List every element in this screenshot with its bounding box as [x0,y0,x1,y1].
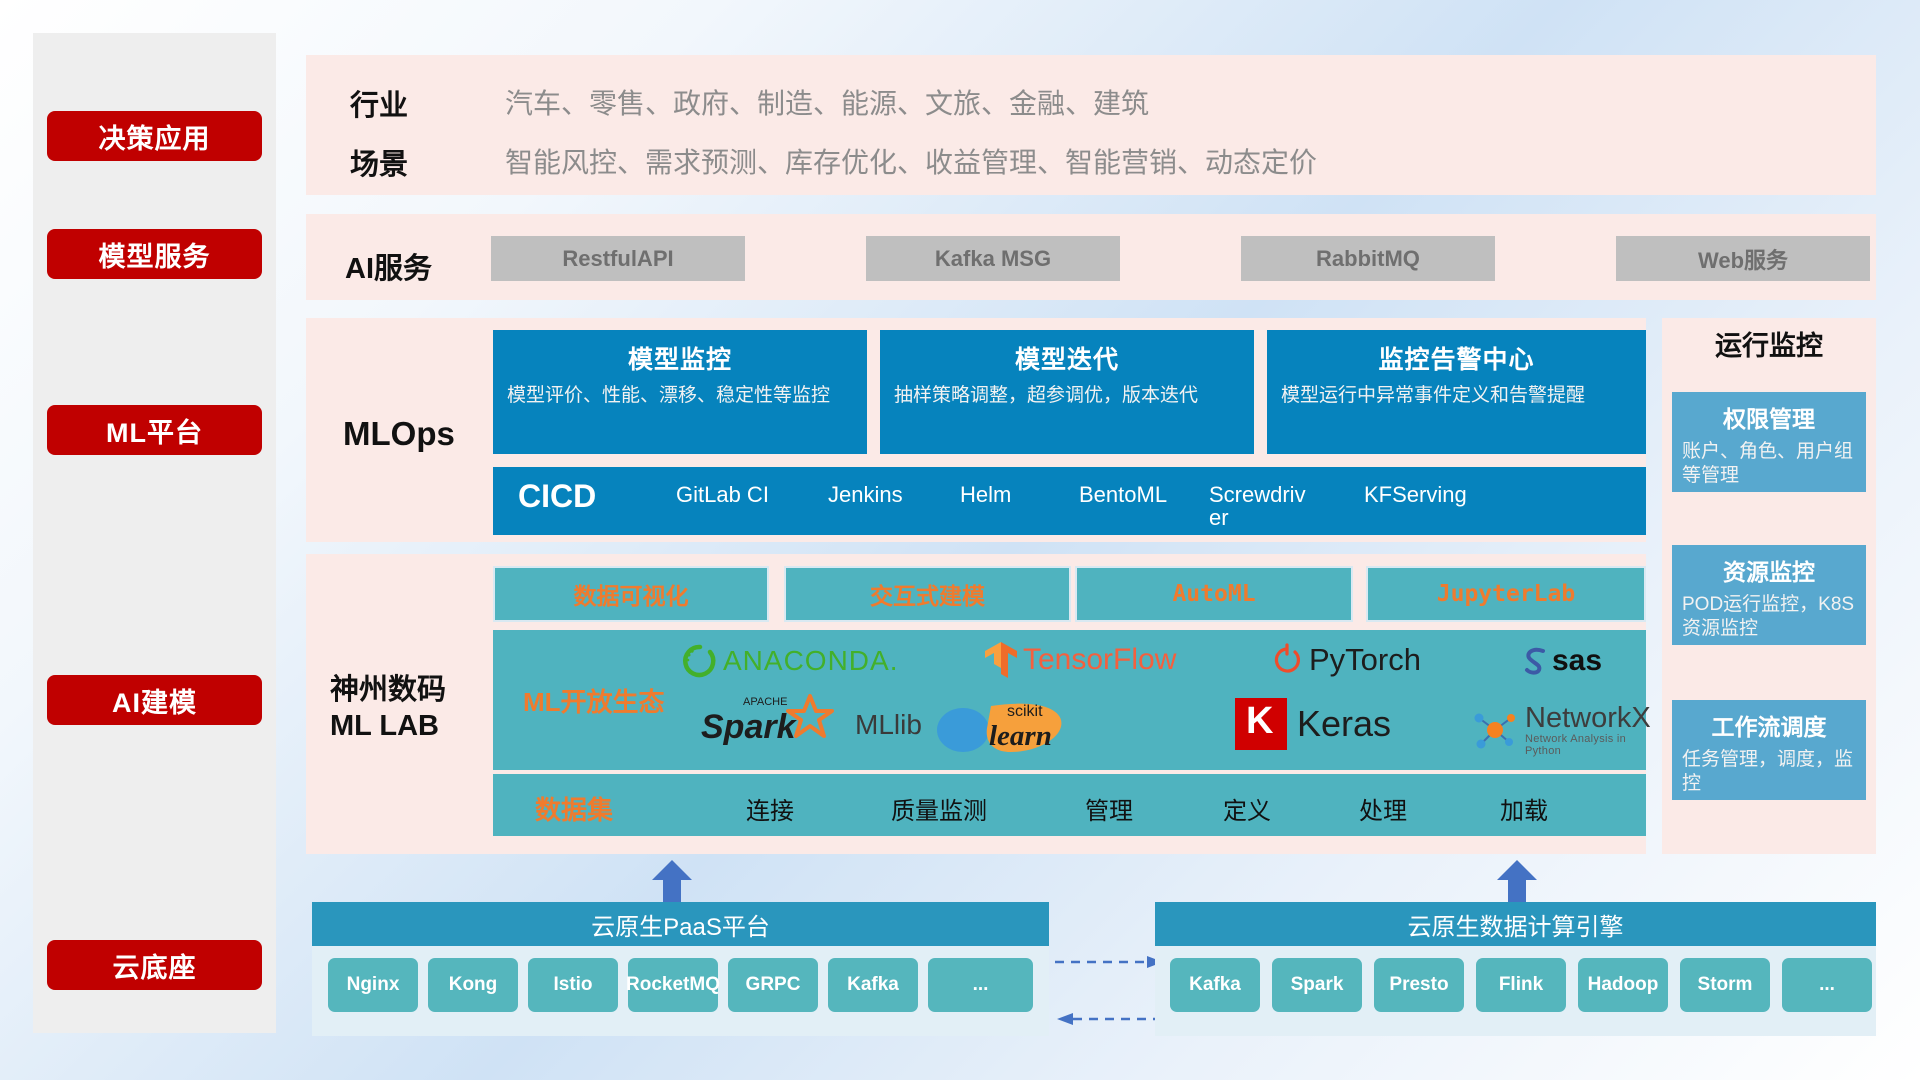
arrow-up-paas [650,860,694,902]
dataset-item-load[interactable]: 加载 [1500,791,1548,826]
card-desc: 抽样策略调整，超参调优，版本迭代 [894,384,1240,409]
scenario-value: 智能风控、需求预测、库存优化、收益管理、智能营销、动态定价 [505,141,1317,181]
compute-chip-hadoop[interactable]: Hadoop [1578,958,1668,1012]
dataset-item-quality[interactable]: 质量监测 [891,791,987,826]
ecosystem-title: ML开放生态 [523,682,665,719]
modeling-chip-data-visualization[interactable]: 数据可视化 [493,566,769,622]
paas-chip-more[interactable]: ... [928,958,1033,1012]
service-chip-web-service[interactable]: Web服务 [1616,236,1870,281]
ml-ecosystem-panel: ML开放生态 ANACONDA. TensorFlow [493,630,1646,770]
dataset-bar: 数据集 连接 质量监测 管理 定义 处理 加载 [493,774,1646,836]
rail-item-decision-app[interactable]: 决策应用 [47,111,262,161]
ml-lab-line2: ML LAB [330,710,439,742]
cicd-bar: CICD GitLab CI Jenkins Helm BentoML Scre… [493,467,1646,535]
dashed-arrow-right [1055,955,1165,969]
dashed-arrow-left [1055,1012,1165,1026]
networkx-wordmark-block: NetworkX Network Analysis in Python [1525,704,1651,757]
networkx-wordmark: NetworkX [1525,704,1651,733]
mlops-card-model-iteration[interactable]: 模型迭代 抽样策略调整，超参调优，版本迭代 [880,330,1254,454]
spark-mark: APACHE Spark [701,702,851,748]
runtime-monitor-title: 运行监控 [1662,324,1876,363]
spark-mllib-logo: APACHE Spark MLlib [701,702,922,748]
paas-chip-kong[interactable]: Kong [428,958,518,1012]
monitor-card-workflow[interactable]: 工作流调度 任务管理，调度，监控 [1672,700,1866,800]
modeling-chip-jupyterlab[interactable]: JupyterLab [1366,566,1646,622]
service-chip-restfulapi[interactable]: RestfulAPI [491,236,745,281]
keras-logo: K Keras [1235,698,1391,750]
learn-text: learn [989,720,1052,753]
scikit-text: scikit [1007,703,1043,721]
paas-chip-rocketmq[interactable]: RocketMQ [628,958,718,1012]
compute-chip-presto[interactable]: Presto [1374,958,1464,1012]
logo-grid: ANACONDA. TensorFlow PyTorch [683,636,1643,764]
card-title: 权限管理 [1682,400,1856,434]
card-desc: 账户、角色、用户组等管理 [1682,440,1856,489]
pytorch-wordmark: PyTorch [1309,642,1421,678]
paas-chip-istio[interactable]: Istio [528,958,618,1012]
arrow-up-compute [1495,860,1539,902]
paas-chip-nginx[interactable]: Nginx [328,958,418,1012]
industry-value: 汽车、零售、政府、制造、能源、文旅、金融、建筑 [505,82,1149,122]
card-title: 资源监控 [1682,553,1856,587]
pytorch-logo: PyTorch [1271,642,1421,678]
monitor-card-resource[interactable]: 资源监控 POD运行监控，K8S资源监控 [1672,545,1866,645]
cicd-item-jenkins[interactable]: Jenkins [828,483,933,506]
compute-chip-flink[interactable]: Flink [1476,958,1566,1012]
rail-item-ml-platform[interactable]: ML平台 [47,405,262,455]
card-desc: 任务管理，调度，监控 [1682,748,1856,797]
compute-chip-kafka[interactable]: Kafka [1170,958,1260,1012]
paas-title: 云原生PaaS平台 [312,902,1049,946]
cicd-item-helm[interactable]: Helm [960,483,1065,506]
service-chip-rabbitmq[interactable]: RabbitMQ [1241,236,1495,281]
sas-logo: sas [1519,644,1602,678]
mlops-label: MLOps [343,415,455,453]
sas-wordmark: sas [1552,644,1602,678]
paas-chip-grpc[interactable]: GRPC [728,958,818,1012]
diagram-canvas: 决策应用 模型服务 ML平台 AI建模 云底座 行业 汽车、零售、政府、制造、能… [0,0,1920,1080]
tensorflow-logo: TensorFlow [983,640,1176,680]
cicd-item-screwdriver[interactable]: Screwdriver [1209,483,1314,529]
networkx-logo: NetworkX Network Analysis in Python [1469,704,1651,757]
card-desc: 模型运行中异常事件定义和告警提醒 [1281,384,1632,409]
ml-lab-line1: 神州数码 [330,674,446,706]
cicd-item-gitlab-ci[interactable]: GitLab CI [676,483,781,506]
modeling-chip-automl[interactable]: AutoML [1075,566,1353,622]
industry-label: 行业 [350,82,408,124]
dataset-item-manage[interactable]: 管理 [1085,791,1133,826]
dataset-title: 数据集 [535,790,613,827]
modeling-chip-interactive-modeling[interactable]: 交互式建模 [784,566,1071,622]
cicd-title: CICD [518,478,596,515]
cicd-item-kfserving[interactable]: KFServing [1364,483,1469,506]
ml-lab-label: 神州数码 ML LAB [330,672,446,745]
dataset-item-define[interactable]: 定义 [1223,791,1271,826]
spark-apache-text: APACHE [743,696,787,708]
card-title: 模型监控 [507,340,853,376]
scikit-learn-logo: scikit learn [931,700,1081,754]
card-title: 监控告警中心 [1281,340,1632,376]
card-title: 工作流调度 [1682,708,1856,742]
keras-mark: K [1235,698,1287,750]
tensorflow-wordmark: TensorFlow [1023,643,1176,677]
rail-item-ai-modeling[interactable]: AI建模 [47,675,262,725]
anaconda-wordmark: ANACONDA. [723,645,898,677]
scenario-label: 场景 [350,141,408,183]
cicd-item-bentoml[interactable]: BentoML [1079,483,1184,506]
mlops-card-model-monitoring[interactable]: 模型监控 模型评价、性能、漂移、稳定性等监控 [493,330,867,454]
dataset-item-process[interactable]: 处理 [1359,791,1407,826]
card-desc: 模型评价、性能、漂移、稳定性等监控 [507,384,853,409]
left-rail [33,33,276,1033]
ai-service-label: AI服务 [345,245,432,287]
mlops-card-alert-center[interactable]: 监控告警中心 模型运行中异常事件定义和告警提醒 [1267,330,1646,454]
card-title: 模型迭代 [894,340,1240,376]
networkx-tagline: Network Analysis in Python [1525,733,1651,757]
paas-chip-kafka[interactable]: Kafka [828,958,918,1012]
anaconda-logo: ANACONDA. [683,644,898,678]
card-desc: POD运行监控，K8S资源监控 [1682,593,1856,642]
keras-wordmark: Keras [1297,703,1391,745]
rail-item-cloud-base[interactable]: 云底座 [47,940,262,990]
compute-chip-spark[interactable]: Spark [1272,958,1362,1012]
compute-title: 云原生数据计算引擎 [1155,902,1876,946]
rail-item-model-service[interactable]: 模型服务 [47,229,262,279]
compute-chip-more[interactable]: ... [1782,958,1872,1012]
compute-chip-storm[interactable]: Storm [1680,958,1770,1012]
monitor-card-permission[interactable]: 权限管理 账户、角色、用户组等管理 [1672,392,1866,492]
service-chip-kafka-msg[interactable]: Kafka MSG [866,236,1120,281]
dataset-item-connect[interactable]: 连接 [746,791,794,826]
